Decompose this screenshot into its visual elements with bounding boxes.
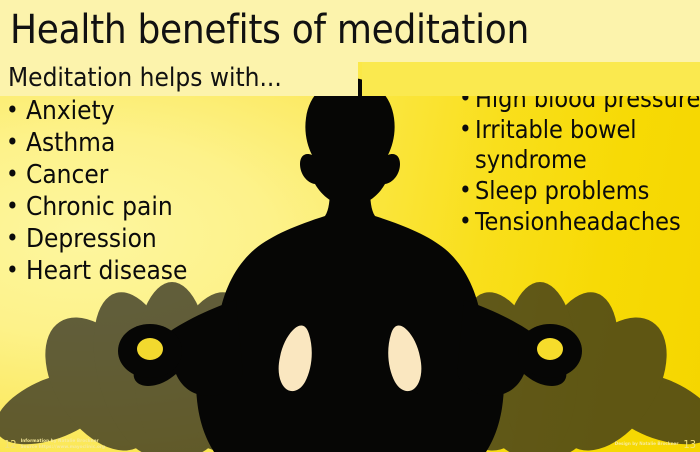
slide-canvas: Health benefits of meditation Meditation…: [0, 0, 700, 452]
design-credit: Design by Natalie Brockner: [615, 442, 679, 447]
left-hand-mudra-opening: [137, 338, 163, 360]
list-item: Heart disease: [0, 256, 300, 287]
page-number-left: 12: [4, 439, 17, 450]
list-item: Sleep problems: [455, 176, 700, 206]
list-item: Depression: [0, 224, 300, 255]
right-benefits-panel: High blood pressure Irritable bowel synd…: [455, 84, 700, 238]
list-item: Asthma: [0, 128, 300, 159]
right-hand-mudra-opening: [537, 338, 563, 360]
left-benefits-panel: Anxiety Asthma Cancer Chronic pain Depre…: [0, 96, 300, 288]
credit-lines: Information by Natalie Brockner Source h…: [21, 439, 106, 450]
list-item: Irritable bowel syndrome: [455, 115, 700, 175]
list-item: Tensionheadaches: [455, 207, 700, 237]
footer-credit-right: Design by Natalie Brockner 13: [615, 439, 696, 450]
list-item: Anxiety: [0, 96, 300, 127]
right-benefits-list: High blood pressure Irritable bowel synd…: [455, 84, 700, 237]
list-item: Chronic pain: [0, 192, 300, 223]
left-benefits-list: Anxiety Asthma Cancer Chronic pain Depre…: [0, 96, 300, 287]
credit-source-line: Source https://www.mayoclinic.org: [21, 445, 106, 450]
list-item: Cancer: [0, 160, 300, 191]
list-item: High blood pressure: [455, 84, 700, 114]
footer-credit-left: 12 Information by Natalie Brockner Sourc…: [4, 439, 105, 450]
page-number-right: 13: [683, 439, 696, 450]
